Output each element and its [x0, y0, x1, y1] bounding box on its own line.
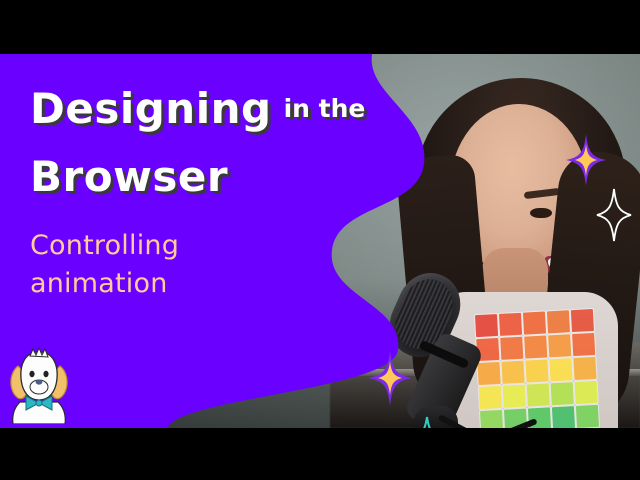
shirt-swatch [547, 310, 570, 333]
title-line-1: Designingin the [30, 84, 365, 133]
shirt-swatch [573, 357, 596, 380]
shirt-swatch [478, 362, 501, 385]
letterbox-bar-top [0, 0, 640, 54]
shirt-swatch [552, 406, 575, 428]
shirt-swatch [551, 382, 574, 405]
shirt-swatch [524, 335, 547, 358]
subtitle-line-2: animation [30, 268, 168, 299]
sparkle-outline-right-icon [596, 188, 632, 242]
shirt-swatch [525, 359, 548, 382]
video-frame: Designingin the Browser Controlling anim… [0, 54, 640, 428]
eye-left [530, 208, 552, 218]
title-main-word: Designing [30, 84, 272, 133]
shirt-swatch [575, 381, 598, 404]
shirt-swatch-grid [475, 309, 599, 428]
subtitle-line-1: Controlling [30, 230, 179, 261]
shirt-swatch [479, 386, 502, 409]
sparkle-mid-left-icon [368, 350, 412, 406]
shirt-swatch [523, 312, 546, 335]
title-line-2: Browser [30, 152, 228, 201]
shirt-swatch [576, 405, 599, 428]
shirt-swatch [501, 361, 524, 384]
eyebrow-left [524, 188, 561, 199]
shirt-swatch [572, 333, 595, 356]
shirt-swatch [571, 309, 594, 332]
shirt-swatch [503, 385, 526, 408]
title-small-words: in the [284, 94, 366, 123]
shirt-swatch [480, 410, 503, 428]
shirt-swatch [548, 334, 571, 357]
letterbox-bar-bottom [0, 428, 640, 480]
shirt-swatch [527, 383, 550, 406]
shirt-swatch [500, 337, 523, 360]
shirt-swatch [499, 313, 522, 336]
sparkle-teal-lower-icon [408, 416, 446, 428]
dog-mascot-logo [6, 346, 72, 424]
thumbnail-canvas: Designingin the Browser Controlling anim… [0, 0, 640, 480]
shirt-swatch [549, 358, 572, 381]
sparkle-top-right-icon [566, 134, 606, 186]
shirt-swatch [475, 314, 498, 337]
